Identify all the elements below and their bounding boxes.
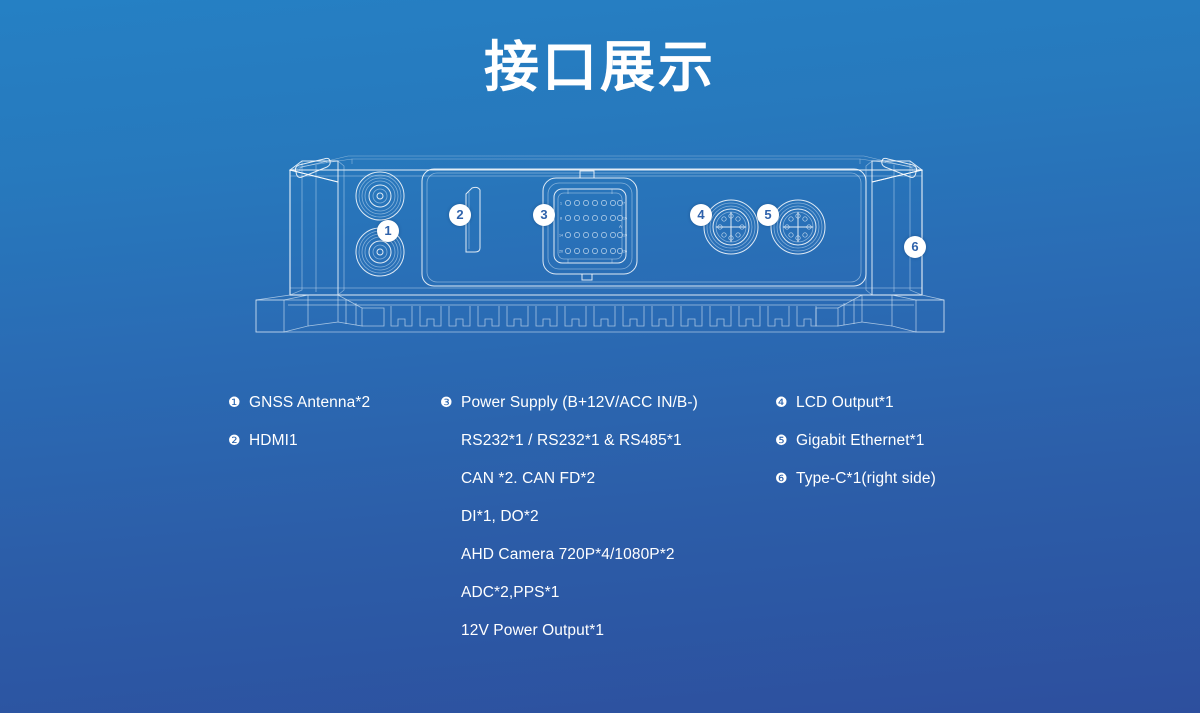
svg-text:26: 26 — [623, 250, 627, 254]
callout-badge-1[interactable]: 1 — [377, 220, 399, 242]
legend-marker-3-icon: ❸ — [440, 392, 461, 414]
legend-item-rs232: · RS232*1 / RS232*1 & RS485*1 — [440, 430, 760, 468]
legend-label-gnss-antenna: GNSS Antenna*2 — [249, 392, 370, 414]
legend-item-di-do: · DI*1, DO*2 — [440, 506, 760, 544]
callout-badge-2[interactable]: 2 — [449, 204, 471, 226]
legend-label-adc-pps: ADC*2,PPS*1 — [461, 582, 559, 604]
legend-item-can: · CAN *2. CAN FD*2 — [440, 468, 760, 506]
legend-label-12v-power-output: 12V Power Output*1 — [461, 620, 604, 642]
connector-pin-grid — [565, 200, 622, 253]
legend-marker-4-icon: ❹ — [775, 392, 796, 414]
device-top-surface — [290, 156, 922, 170]
legend-marker-1-icon: ❶ — [228, 392, 249, 414]
legend-item-adc-pps: · ADC*2,PPS*1 — [440, 582, 760, 620]
svg-text:1: 1 — [560, 202, 562, 206]
legend-item-type-c: ❻ Type-C*1(right side) — [775, 468, 1035, 506]
legend-label-rs232: RS232*1 / RS232*1 & RS485*1 — [461, 430, 682, 452]
svg-text:7: 7 — [623, 202, 625, 206]
svg-text:15: 15 — [623, 217, 627, 221]
callout-badge-3[interactable]: 3 — [533, 204, 555, 226]
callout-badge-4[interactable]: 4 — [690, 204, 712, 226]
legend-label-power-supply: Power Supply (B+12V/ACC IN/B-) — [461, 392, 698, 414]
page-title: 接口展示 — [0, 34, 1200, 100]
legend-label-type-c: Type-C*1(right side) — [796, 468, 936, 490]
legend-label-can: CAN *2. CAN FD*2 — [461, 468, 595, 490]
lcd-output-connector — [704, 200, 758, 254]
right-mounting-bracket — [866, 158, 922, 295]
svg-text:14: 14 — [559, 234, 563, 238]
legend-item-12v-power-output: · 12V Power Output*1 — [440, 620, 760, 658]
legend-item-power-supply: ❸ Power Supply (B+12V/ACC IN/B-) — [440, 392, 760, 430]
legend-item-ahd-camera: · AHD Camera 720P*4/1080P*2 — [440, 544, 760, 582]
svg-text:19: 19 — [623, 234, 627, 238]
left-mounting-bracket — [290, 158, 344, 295]
legend-label-di-do: DI*1, DO*2 — [461, 506, 539, 528]
legend-marker-5-icon: ❺ — [775, 430, 796, 452]
device-illustration: 1 7 8 15 14 19 20 26 A — [228, 140, 972, 365]
device-wireframe-svg: 1 7 8 15 14 19 20 26 A — [228, 140, 972, 365]
legend-label-hdmi: HDMI1 — [249, 430, 298, 452]
legend-item-hdmi: ❷ HDMI1 — [228, 430, 428, 468]
gigabit-ethernet-connector — [771, 200, 825, 254]
legend-marker-2-icon: ❷ — [228, 430, 249, 452]
svg-text:A: A — [619, 224, 622, 229]
legend-label-gigabit-ethernet: Gigabit Ethernet*1 — [796, 430, 924, 452]
legend-item-lcd-output: ❹ LCD Output*1 — [775, 392, 1035, 430]
power-io-connector: 1 7 8 15 14 19 20 26 A — [543, 171, 637, 280]
connector-pin-labels: 1 7 8 15 14 19 20 26 A — [559, 202, 627, 254]
svg-text:20: 20 — [559, 250, 563, 254]
legend-item-gigabit-ethernet: ❺ Gigabit Ethernet*1 — [775, 430, 1035, 468]
callout-badge-6[interactable]: 6 — [904, 236, 926, 258]
legend-marker-6-icon: ❻ — [775, 468, 796, 490]
legend-label-lcd-output: LCD Output*1 — [796, 392, 894, 414]
legend-item-gnss-antenna: ❶ GNSS Antenna*2 — [228, 392, 428, 430]
legend-column-1: ❶ GNSS Antenna*2 ❷ HDMI1 — [228, 392, 428, 468]
legend-label-ahd-camera: AHD Camera 720P*4/1080P*2 — [461, 544, 675, 566]
legend-column-3: ❹ LCD Output*1 ❺ Gigabit Ethernet*1 ❻ Ty… — [775, 392, 1035, 506]
callout-badge-5[interactable]: 5 — [757, 204, 779, 226]
device-base-plate — [256, 295, 944, 332]
heatsink-fins — [391, 306, 816, 326]
legend: ❶ GNSS Antenna*2 ❷ HDMI1 ❸ Power Supply … — [0, 392, 1200, 662]
svg-text:8: 8 — [560, 217, 562, 221]
legend-column-2: ❸ Power Supply (B+12V/ACC IN/B-) · RS232… — [440, 392, 760, 658]
